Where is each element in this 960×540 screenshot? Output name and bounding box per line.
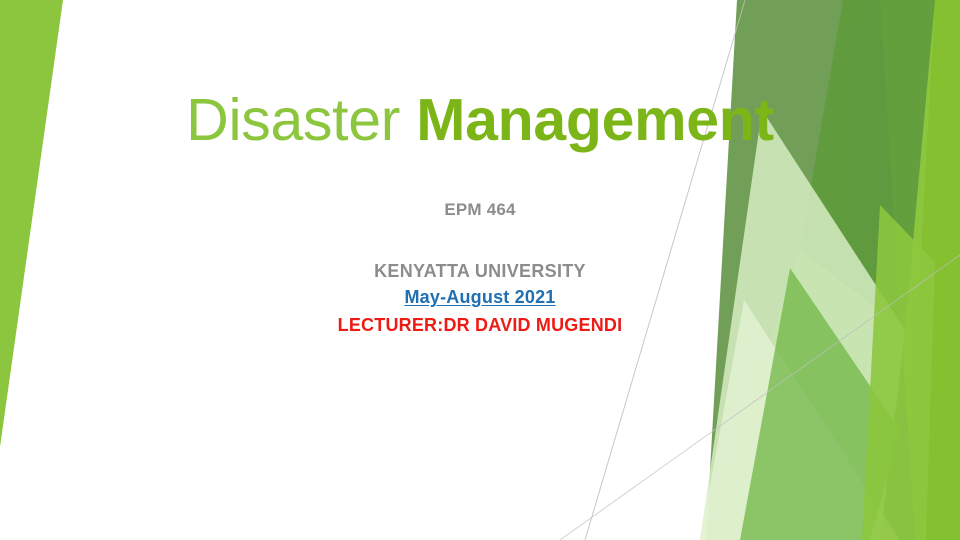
- page-title: Disaster Management: [0, 88, 960, 152]
- title-word-disaster: Disaster: [186, 87, 416, 153]
- term-hyperlink[interactable]: May-August 2021: [404, 284, 555, 310]
- subtitle-spacer: [0, 222, 960, 258]
- course-code: EPM 464: [0, 198, 960, 222]
- institution-name: KENYATTA UNIVERSITY: [0, 258, 960, 284]
- presentation-slide: Disaster Management EPM 464 KENYATTA UNI…: [0, 0, 960, 540]
- title-word-management: Management: [416, 87, 774, 153]
- slide-text-content: Disaster Management EPM 464 KENYATTA UNI…: [0, 0, 960, 540]
- subtitle-block: EPM 464 KENYATTA UNIVERSITY May-August 2…: [0, 198, 960, 338]
- lecturer-name: LECTURER:DR DAVID MUGENDI: [0, 312, 960, 338]
- term-row: May-August 2021: [0, 284, 960, 312]
